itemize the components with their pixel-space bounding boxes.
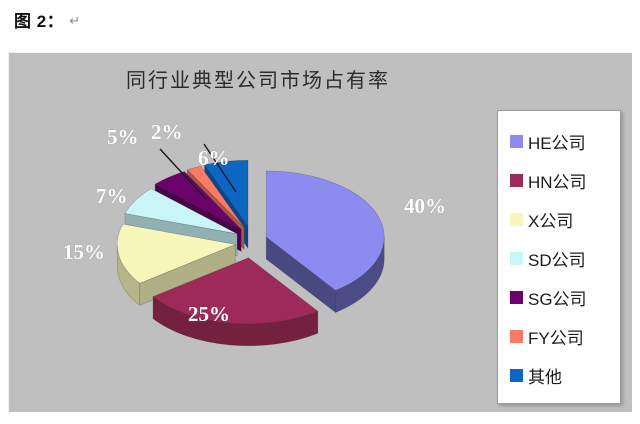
legend-swatch-other (510, 369, 523, 382)
chart-legend: HE公司 HN公司 X公司 SD公司 SG公司 FY公司 其他 (497, 110, 621, 404)
legend-swatch-fy (510, 330, 523, 343)
pie-value-label: 5% (107, 125, 139, 150)
legend-item[interactable]: 其他 (510, 356, 620, 395)
legend-label-fy: FY公司 (528, 324, 584, 349)
figure-caption-text: 图 2： (14, 12, 64, 31)
pie-chart-plot-area: 40%25%15%7%5%2%6% (8, 74, 498, 404)
legend-swatch-sd (510, 252, 523, 265)
legend-label-sg: SG公司 (528, 285, 587, 310)
legend-label-x: X公司 (528, 207, 573, 232)
legend-item[interactable]: HE公司 (510, 122, 620, 161)
chart-container: 同行业典型公司市场占有率 40%25%15%7%5%2%6% HE公司 HN公司… (8, 52, 632, 412)
pie-value-label: 25% (188, 302, 230, 327)
legend-swatch-x (510, 213, 523, 226)
pie-value-label: 2% (151, 120, 183, 145)
legend-label-other: 其他 (528, 363, 562, 388)
legend-label-he: HE公司 (528, 129, 586, 154)
legend-item[interactable]: SD公司 (510, 239, 620, 278)
legend-item[interactable]: SG公司 (510, 278, 620, 317)
legend-swatch-hn (510, 174, 523, 187)
legend-swatch-he (510, 135, 523, 148)
legend-label-hn: HN公司 (528, 168, 587, 193)
legend-item[interactable]: FY公司 (510, 317, 620, 356)
pie-value-label: 6% (198, 146, 230, 171)
paragraph-mark-icon: ↵ (69, 13, 80, 28)
legend-label-sd: SD公司 (528, 246, 586, 271)
pie-value-label: 40% (404, 194, 446, 219)
pie-slices-group (117, 160, 384, 346)
legend-item[interactable]: X公司 (510, 200, 620, 239)
pie-value-label: 15% (63, 240, 105, 265)
legend-item[interactable]: HN公司 (510, 161, 620, 200)
pie-chart-svg (8, 74, 498, 404)
legend-swatch-sg (510, 291, 523, 304)
pie-value-label: 7% (96, 184, 128, 209)
figure-caption: 图 2：↵ (14, 7, 81, 32)
